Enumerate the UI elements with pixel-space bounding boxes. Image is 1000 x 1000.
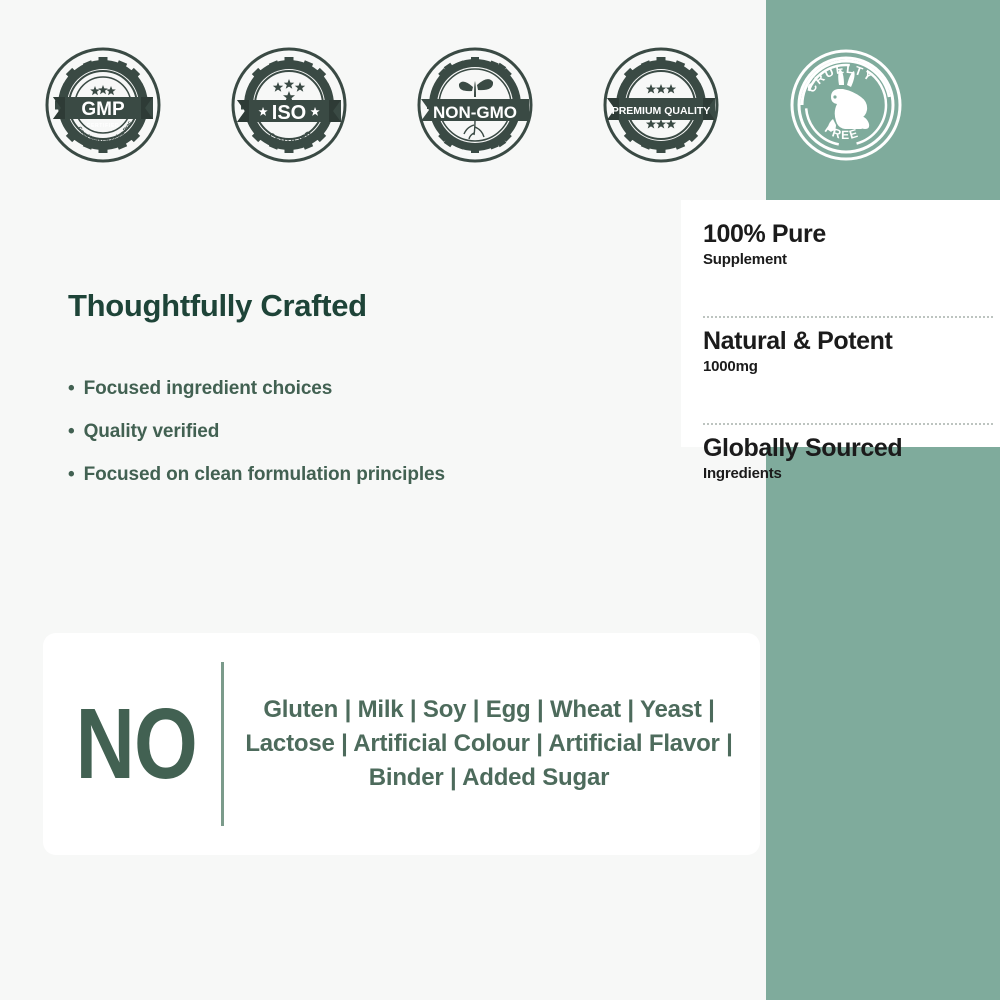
crafted-bullet-list: • Focused ingredient choices • Quality v… bbox=[68, 378, 628, 507]
feature-highlight-card: 100% Pure Supplement Natural & Potent 10… bbox=[681, 200, 1000, 447]
feature-item-pure: 100% Pure Supplement bbox=[703, 222, 1000, 304]
gmp-badge-sub: CERTIFIED bbox=[87, 123, 120, 129]
feature-divider bbox=[703, 423, 993, 425]
feature-subtitle: 1000mg bbox=[703, 358, 1000, 375]
non-gmo-badge-label: NON-GMO bbox=[433, 103, 517, 122]
feature-item-sourced: Globally Sourced Ingredients bbox=[703, 436, 1000, 518]
feature-subtitle: Supplement bbox=[703, 251, 1000, 268]
free-from-list: Gluten | Milk | Soy | Egg | Wheat | Yeas… bbox=[244, 693, 760, 795]
iso-badge-label: ISO bbox=[272, 102, 306, 124]
certification-badge-row: GMP CERTIFIED Good Manufacturing Practic… bbox=[0, 45, 1000, 165]
list-item-label: Quality verified bbox=[84, 421, 220, 443]
iso-badge: ISO CERTIFIED bbox=[231, 45, 347, 165]
list-item-label: Focused ingredient choices bbox=[84, 378, 333, 400]
list-item-label: Focused on clean formulation principles bbox=[84, 464, 445, 486]
feature-title: 100% Pure bbox=[703, 222, 1000, 247]
premium-quality-badge-label: PREMIUM QUALITY bbox=[612, 105, 711, 117]
list-item: • Quality verified bbox=[68, 421, 628, 464]
bullet-dot-icon: • bbox=[68, 465, 75, 484]
list-item: • Focused ingredient choices bbox=[68, 378, 628, 421]
bullet-dot-icon: • bbox=[68, 422, 75, 441]
premium-quality-badge: PREMIUM QUALITY bbox=[603, 45, 719, 165]
list-item: • Focused on clean formulation principle… bbox=[68, 464, 628, 507]
free-from-word: NO bbox=[76, 694, 191, 794]
non-gmo-badge: NON-GMO bbox=[417, 45, 533, 165]
feature-title: Globally Sourced bbox=[703, 436, 1000, 461]
feature-item-potent: Natural & Potent 1000mg bbox=[703, 329, 1000, 411]
feature-title: Natural & Potent bbox=[703, 329, 1000, 354]
cruelty-free-badge: CRUELTY FREE bbox=[788, 45, 904, 165]
feature-subtitle: Ingredients bbox=[703, 465, 1000, 482]
vertical-divider bbox=[221, 662, 224, 826]
page-title: Thoughtfully Crafted bbox=[68, 288, 367, 324]
feature-divider bbox=[703, 316, 993, 318]
free-from-card: NO Gluten | Milk | Soy | Egg | Wheat | Y… bbox=[43, 633, 760, 855]
infographic-page: GMP CERTIFIED Good Manufacturing Practic… bbox=[0, 0, 1000, 1000]
gmp-badge: GMP CERTIFIED Good Manufacturing Practic… bbox=[45, 45, 161, 165]
gmp-badge-label: GMP bbox=[81, 99, 125, 120]
bullet-dot-icon: • bbox=[68, 379, 75, 398]
